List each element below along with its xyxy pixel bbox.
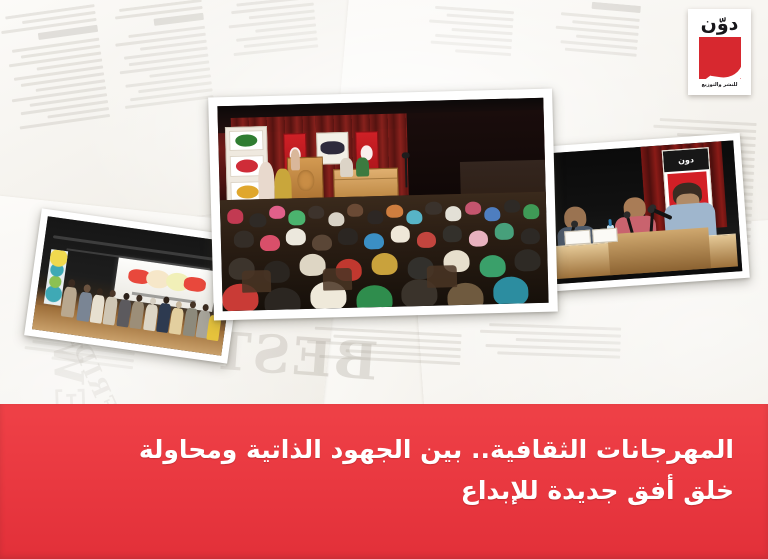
audience-head bbox=[227, 209, 244, 224]
audience-head bbox=[386, 205, 403, 219]
photo-right-panel-discussion: دون bbox=[532, 133, 750, 292]
photo-center-image bbox=[217, 98, 548, 311]
audience-head bbox=[338, 228, 358, 245]
photo-center-auditorium-audience bbox=[208, 89, 558, 321]
audience-head bbox=[425, 201, 442, 215]
name-plate bbox=[592, 227, 618, 243]
audience-head bbox=[468, 230, 488, 247]
audience-head bbox=[515, 249, 542, 272]
audience-head bbox=[328, 212, 345, 227]
audience-head bbox=[504, 199, 521, 213]
audience-head bbox=[521, 228, 541, 245]
audience-head bbox=[494, 223, 514, 240]
audience-head bbox=[367, 210, 384, 225]
audience-head bbox=[286, 228, 306, 245]
stage-speaker bbox=[339, 158, 353, 177]
banner-word: دون bbox=[678, 156, 694, 165]
headline-line-1: المهرجانات الثقافية.. بين الجهود الذاتية… bbox=[34, 430, 734, 471]
audience-head bbox=[493, 277, 530, 307]
audience-head bbox=[347, 203, 364, 217]
audience-head bbox=[269, 206, 286, 220]
sponsor-logo-icon bbox=[235, 134, 257, 147]
publisher-logo-tagline: للنشر والتوزيع bbox=[702, 82, 738, 88]
auditorium-seat bbox=[241, 270, 271, 293]
stage-speaker bbox=[258, 162, 275, 203]
audience-head bbox=[416, 231, 436, 248]
photo-right-image: دون bbox=[540, 140, 743, 284]
headline-line-2: خلق أفق جديدة للإبداع bbox=[34, 471, 734, 512]
audience-head bbox=[234, 231, 254, 248]
audience-head bbox=[445, 206, 462, 221]
audience-head bbox=[356, 285, 393, 312]
stage-speaker bbox=[290, 149, 300, 170]
name-plate bbox=[564, 229, 590, 245]
publisher-logo-card[interactable]: دوّن للنشر والتوزيع bbox=[688, 9, 751, 95]
headline-banner: المهرجانات الثقافية.. بين الجهود الذاتية… bbox=[0, 404, 768, 559]
audience-seating bbox=[220, 192, 549, 311]
sponsor-logo-icon bbox=[236, 160, 258, 173]
stage-speaker bbox=[356, 158, 370, 177]
audience-head bbox=[260, 234, 280, 251]
audience-head bbox=[406, 210, 423, 225]
audience-head bbox=[464, 201, 481, 215]
audience-head bbox=[371, 252, 398, 275]
publisher-logo-mark-icon bbox=[699, 37, 741, 79]
audience-head bbox=[442, 225, 462, 242]
banner-title-area: دون bbox=[663, 148, 709, 172]
photo-left-image bbox=[32, 216, 237, 355]
panel-table-front bbox=[608, 228, 711, 276]
sponsor-logo-box bbox=[229, 130, 263, 152]
audience-head bbox=[484, 207, 501, 222]
auditorium-seat bbox=[323, 268, 353, 291]
audience-head bbox=[289, 211, 306, 226]
headline-text: المهرجانات الثقافية.. بين الجهود الذاتية… bbox=[34, 430, 734, 511]
auditorium-seat bbox=[427, 265, 457, 288]
publisher-logo-word: دوّن bbox=[701, 15, 739, 34]
screen-logo-shape bbox=[183, 276, 207, 293]
audience-head bbox=[364, 233, 384, 250]
audience-head bbox=[250, 213, 267, 228]
audience-head bbox=[390, 225, 410, 242]
audience-head bbox=[479, 255, 506, 278]
sponsor-logo-icon bbox=[236, 185, 258, 198]
audience-head bbox=[312, 234, 332, 251]
poster-canvas: BEST FRIDAY NEWS bbox=[0, 0, 768, 559]
audience-head bbox=[308, 206, 325, 220]
audience-head bbox=[523, 204, 540, 219]
